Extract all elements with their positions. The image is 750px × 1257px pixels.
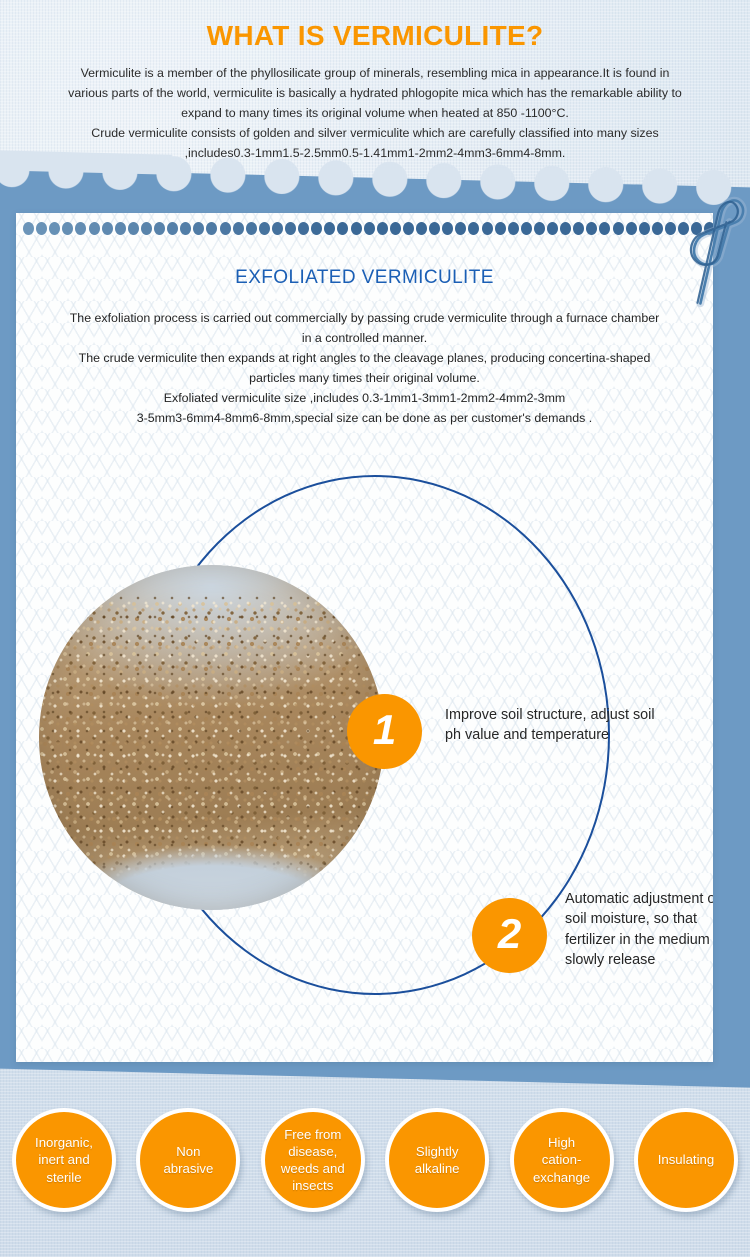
feature-badge-label: Free fromdisease,weeds andinsects [281, 1126, 345, 1195]
page-title: WHAT IS VERMICULITE? [0, 0, 750, 52]
feature-badge-line: disease, [281, 1143, 345, 1160]
feature-badge-3[interactable]: Free fromdisease,weeds andinsects [261, 1108, 365, 1212]
feature-badge-line: Insulating [658, 1151, 714, 1168]
vermiculite-photo [39, 565, 384, 910]
benefit-2-line: slowly release [565, 950, 713, 970]
feature-badge-5[interactable]: Highcation-exchange [510, 1108, 614, 1212]
feature-badge-label: Highcation-exchange [533, 1134, 590, 1185]
section-body-line: in a controlled manner. [28, 328, 701, 348]
card-content: EXFOLIATED VERMICULITE The exfoliation p… [16, 213, 713, 1062]
intro-line: various parts of the world, vermiculite … [25, 83, 725, 103]
feature-badge-line: Non [163, 1143, 213, 1160]
feature-badge-line: sterile [35, 1169, 93, 1186]
feature-badge-line: weeds and [281, 1160, 345, 1177]
intro-line: ,includes0.3-1mm1.5-2.5mm0.5-1.41mm1-2mm… [25, 143, 725, 163]
intro-paragraph: Vermiculite is a member of the phyllosil… [25, 63, 725, 163]
feature-badge-4[interactable]: Slightlyalkaline [385, 1108, 489, 1212]
benefit-2-line: soil moisture, so that [565, 909, 713, 929]
feature-badges: Inorganic,inert andsterileNonabrasiveFre… [0, 1108, 750, 1218]
feature-badge-line: exchange [533, 1169, 590, 1186]
intro-line: Crude vermiculite consists of golden and… [25, 123, 725, 143]
benefit-number-2: 2 [472, 898, 547, 973]
feature-badge-label: Slightlyalkaline [415, 1143, 460, 1177]
intro-line: Vermiculite is a member of the phyllosil… [25, 63, 725, 83]
photo-vignette [39, 565, 384, 910]
intro-line: expand to many times its original volume… [25, 103, 725, 123]
feature-badge-line: abrasive [163, 1160, 213, 1177]
paper-card: EXFOLIATED VERMICULITE The exfoliation p… [16, 213, 713, 1062]
feature-badge-6[interactable]: Insulating [634, 1108, 738, 1212]
feature-badge-1[interactable]: Inorganic,inert andsterile [12, 1108, 116, 1212]
feature-badge-line: Slightly [415, 1143, 460, 1160]
benefit-1-line: ph value and temperature [445, 725, 695, 745]
feature-badge-2[interactable]: Nonabrasive [136, 1108, 240, 1212]
section-title: EXFOLIATED VERMICULITE [16, 267, 713, 289]
feature-badge-line: inert and [35, 1151, 93, 1168]
section-body-line: The crude vermiculite then expands at ri… [28, 348, 701, 368]
feature-badge-line: Free from [281, 1126, 345, 1143]
section-body-line: Exfoliated vermiculite size ,includes 0.… [28, 388, 701, 408]
feature-badge-line: Inorganic, [35, 1134, 93, 1151]
section-body-line: The exfoliation process is carried out c… [28, 308, 701, 328]
header: WHAT IS VERMICULITE? Vermiculite is a me… [0, 0, 750, 163]
benefit-1-line: Improve soil structure, adjust soil [445, 705, 695, 725]
feature-badge-label: Inorganic,inert andsterile [35, 1134, 93, 1185]
feature-badge-label: Nonabrasive [163, 1143, 213, 1177]
benefit-2-line: Automatic adjustment of [565, 889, 713, 909]
feature-badge-line: insects [281, 1177, 345, 1194]
section-body-line: particles many times their original volu… [28, 368, 701, 388]
benefit-number-1: 1 [347, 694, 422, 769]
benefit-text-2: Automatic adjustment ofsoil moisture, so… [565, 889, 713, 971]
feature-badge-line: High [533, 1134, 590, 1151]
infographic-page: WHAT IS VERMICULITE? Vermiculite is a me… [0, 0, 750, 1257]
section-body-line: 3-5mm3-6mm4-8mm6-8mm,special size can be… [28, 408, 701, 428]
feature-badge-line: cation- [533, 1151, 590, 1168]
benefit-text-1: Improve soil structure, adjust soilph va… [445, 705, 695, 746]
benefit-2-line: fertilizer in the medium [565, 930, 713, 950]
feature-badge-label: Insulating [658, 1151, 714, 1168]
feature-badge-line: alkaline [415, 1160, 460, 1177]
section-body-paragraph: The exfoliation process is carried out c… [28, 308, 701, 429]
